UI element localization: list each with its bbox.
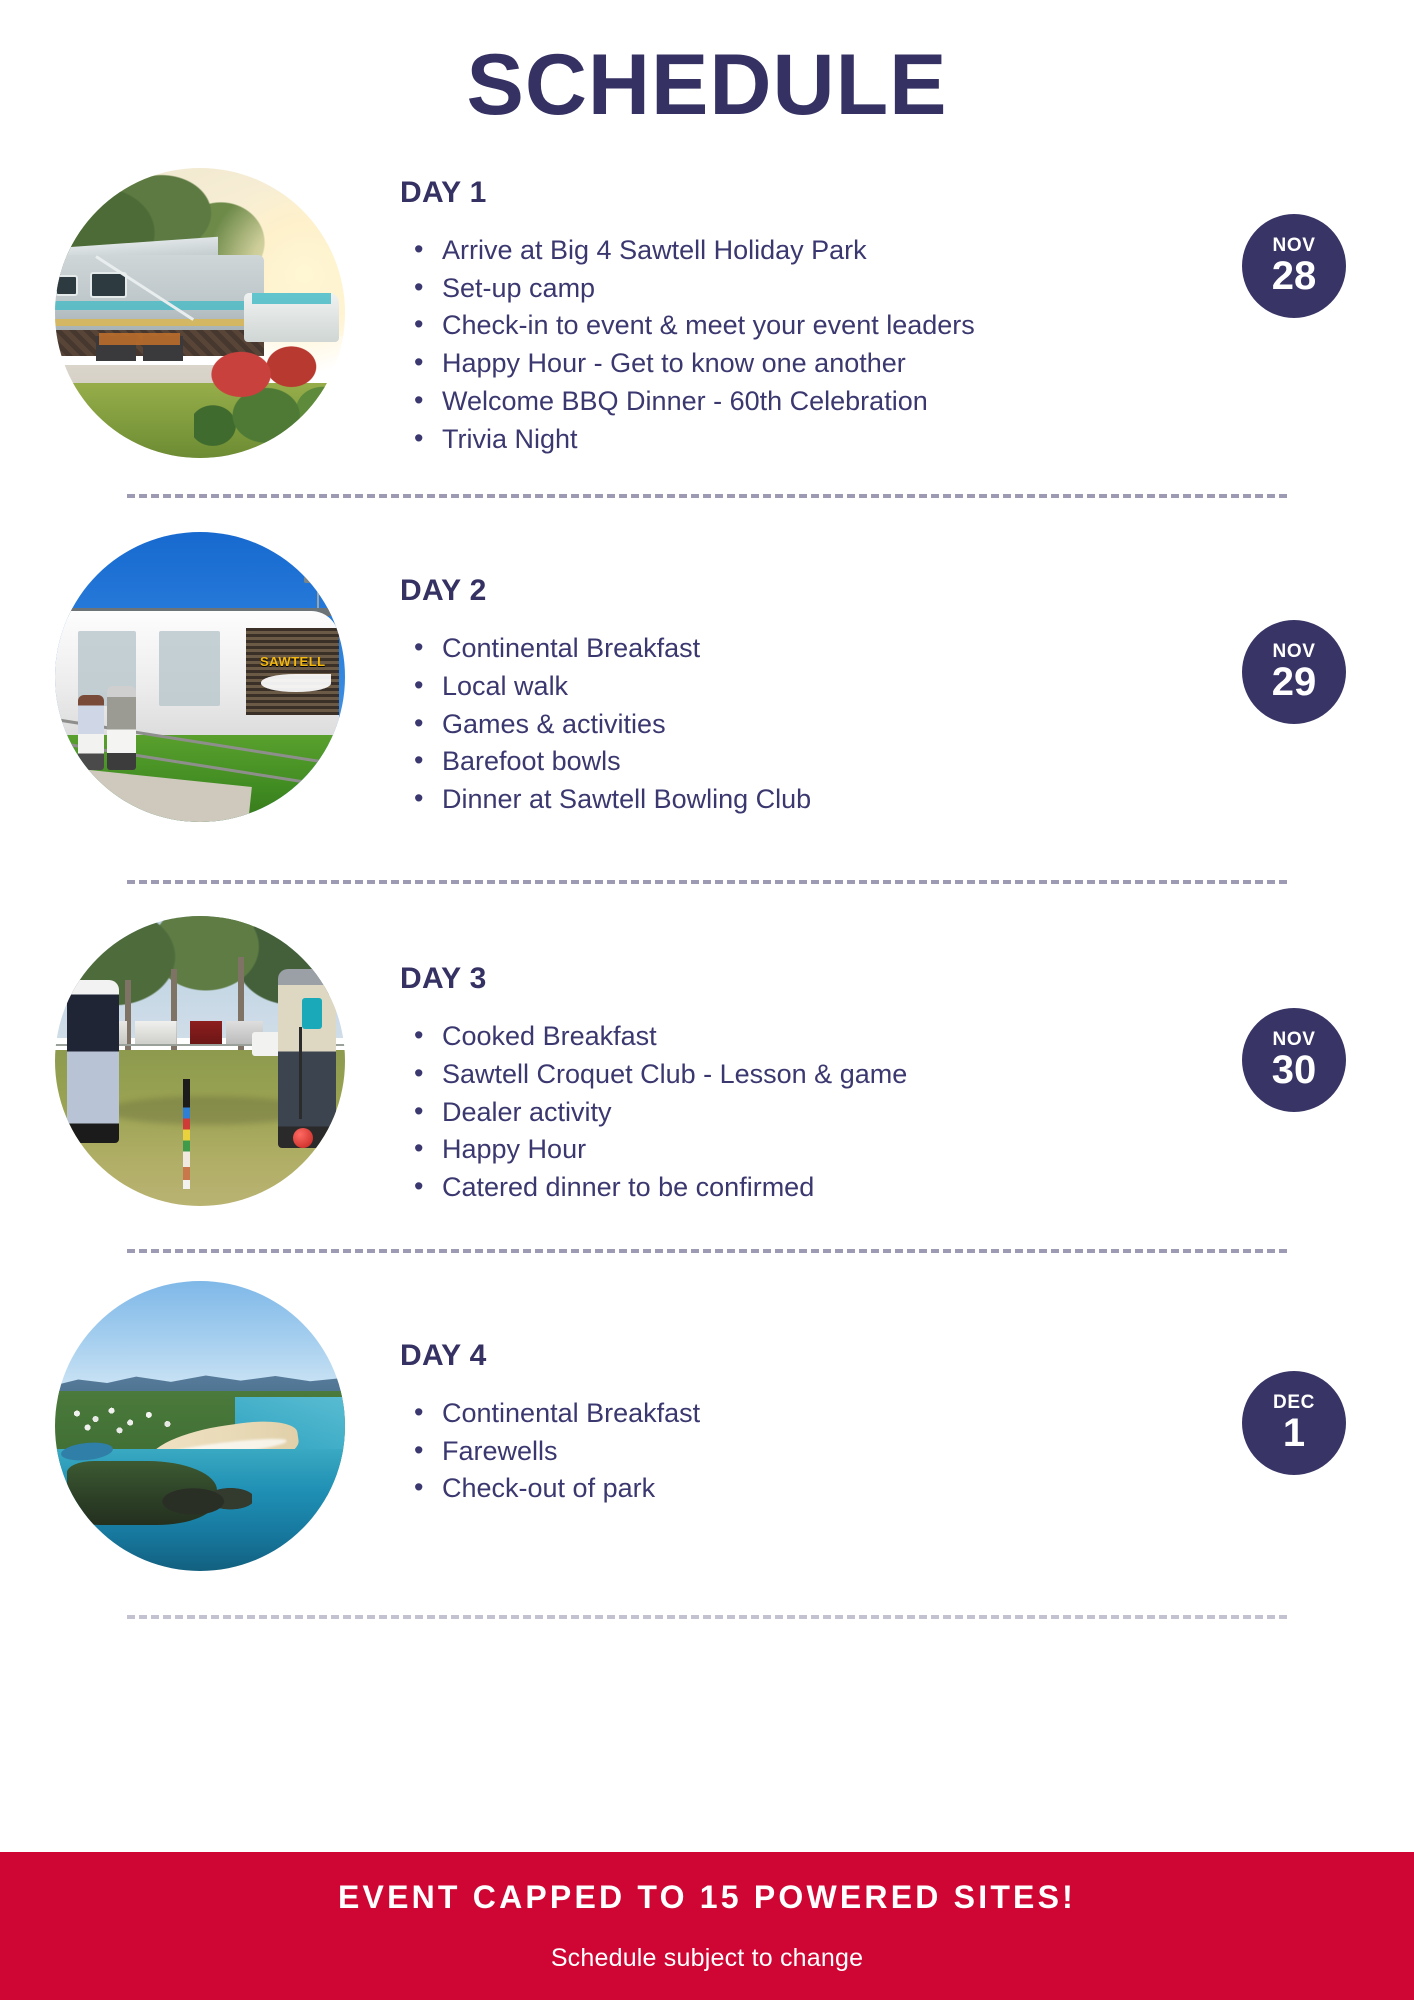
list-item: Dealer activity <box>442 1094 1174 1131</box>
day-item-list: Cooked Breakfast Sawtell Croquet Club - … <box>400 1018 1174 1206</box>
day-date-col: NOV 28 <box>1174 168 1414 318</box>
date-badge: NOV 28 <box>1242 214 1346 318</box>
day-date-col: NOV 29 <box>1174 532 1414 724</box>
schedule-page: SCHEDULE <box>0 0 1414 2000</box>
day-text-col: DAY 2 Continental Breakfast Local walk G… <box>400 532 1174 819</box>
day-row: DAY 3 Cooked Breakfast Sawtell Croquet C… <box>0 916 1414 1207</box>
footer-note: Schedule subject to change <box>551 1944 863 1973</box>
list-item: Continental Breakfast <box>442 1395 1174 1432</box>
list-item: Welcome BBQ Dinner - 60th Celebration <box>442 383 1174 420</box>
list-item: Happy Hour <box>442 1131 1174 1168</box>
list-item: Sawtell Croquet Club - Lesson & game <box>442 1056 1174 1093</box>
section-divider-final <box>127 1615 1287 1619</box>
date-badge-day: 1 <box>1283 1413 1305 1454</box>
date-badge-month: DEC <box>1273 1393 1315 1412</box>
date-badge-day: 29 <box>1272 662 1317 703</box>
day-row: SAWTELL DAY 2 Continental Breakfast Loca… <box>0 532 1414 822</box>
day-title: DAY 1 <box>400 176 1174 210</box>
date-badge-month: NOV <box>1273 1030 1316 1049</box>
croquet-lawn-photo <box>55 916 345 1206</box>
date-badge-day: 30 <box>1272 1050 1317 1091</box>
day-title: DAY 2 <box>400 574 1174 608</box>
date-badge-day: 28 <box>1272 256 1317 297</box>
day-item-list: Arrive at Big 4 Sawtell Holiday Park Set… <box>400 232 1174 457</box>
day-list: DAY 1 Arrive at Big 4 Sawtell Holiday Pa… <box>0 168 1414 1619</box>
day-title: DAY 4 <box>400 1339 1174 1373</box>
list-item: Set-up camp <box>442 270 1174 307</box>
date-badge-month: NOV <box>1273 642 1316 661</box>
day-photo-col: SAWTELL <box>0 532 400 822</box>
section-divider <box>127 494 1287 498</box>
list-item: Games & activities <box>442 706 1174 743</box>
list-item: Check-in to event & meet your event lead… <box>442 307 1174 344</box>
list-item: Continental Breakfast <box>442 630 1174 667</box>
list-item: Arrive at Big 4 Sawtell Holiday Park <box>442 232 1174 269</box>
list-item: Cooked Breakfast <box>442 1018 1174 1055</box>
day-row: DAY 1 Arrive at Big 4 Sawtell Holiday Pa… <box>0 168 1414 458</box>
day-row: DAY 4 Continental Breakfast Farewells Ch… <box>0 1281 1414 1571</box>
page-title-wrap: SCHEDULE <box>0 0 1414 128</box>
day-photo-col <box>0 168 400 458</box>
section-divider <box>127 1249 1287 1253</box>
day-text-col: DAY 3 Cooked Breakfast Sawtell Croquet C… <box>400 916 1174 1207</box>
section-divider <box>127 880 1287 884</box>
date-badge-month: NOV <box>1273 236 1316 255</box>
list-item: Dinner at Sawtell Bowling Club <box>442 781 1174 818</box>
footer-headline: EVENT CAPPED TO 15 POWERED SITES! <box>338 1879 1076 1916</box>
day-photo-col <box>0 916 400 1206</box>
list-item: Happy Hour - Get to know one another <box>442 345 1174 382</box>
day-text-col: DAY 1 Arrive at Big 4 Sawtell Holiday Pa… <box>400 168 1174 458</box>
day-date-col: NOV 30 <box>1174 916 1414 1112</box>
page-title: SCHEDULE <box>0 42 1414 128</box>
list-item: Local walk <box>442 668 1174 705</box>
day-date-col: DEC 1 <box>1174 1281 1414 1475</box>
sawtell-coastline-aerial-photo <box>55 1281 345 1571</box>
footer-banner: EVENT CAPPED TO 15 POWERED SITES! Schedu… <box>0 1852 1414 2000</box>
date-badge: NOV 30 <box>1242 1008 1346 1112</box>
caravan-at-holiday-park-photo <box>55 168 345 458</box>
list-item: Farewells <box>442 1433 1174 1470</box>
list-item: Catered dinner to be confirmed <box>442 1169 1174 1206</box>
sawtell-bowling-club-photo: SAWTELL <box>55 532 345 822</box>
list-item: Trivia Night <box>442 421 1174 458</box>
day-item-list: Continental Breakfast Farewells Check-ou… <box>400 1395 1174 1507</box>
day-title: DAY 3 <box>400 962 1174 996</box>
day-item-list: Continental Breakfast Local walk Games &… <box>400 630 1174 818</box>
list-item: Check-out of park <box>442 1470 1174 1507</box>
day-text-col: DAY 4 Continental Breakfast Farewells Ch… <box>400 1281 1174 1508</box>
date-badge: NOV 29 <box>1242 620 1346 724</box>
day-photo-col <box>0 1281 400 1571</box>
date-badge: DEC 1 <box>1242 1371 1346 1475</box>
list-item: Barefoot bowls <box>442 743 1174 780</box>
